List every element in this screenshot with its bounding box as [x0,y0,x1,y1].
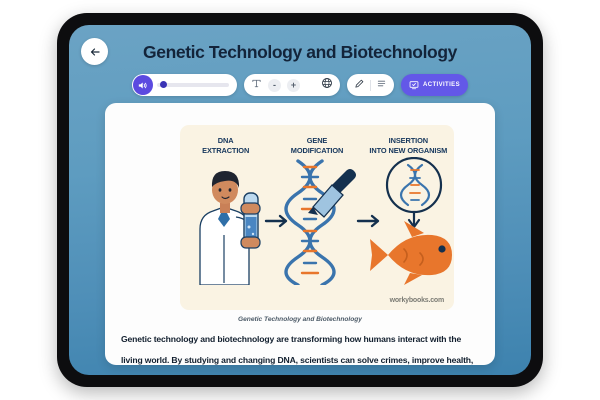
illustration-caption: Genetic Technology and Biotechnology [105,316,495,323]
lesson-body-text: Genetic technology and biotechnology are… [121,329,481,365]
activities-label: ACTIVITIES [423,82,460,88]
stage-label-insertion: INSERTION INTO NEW ORGANISM [363,136,454,156]
audio-control-group [132,74,237,96]
globe-icon[interactable] [321,76,333,94]
content-card: DNA EXTRACTION GENE MODIFICATION INSERTI… [105,103,495,365]
arrow-1 [266,216,286,226]
list-icon[interactable] [376,76,387,94]
process-illustration [180,157,454,285]
scientist-figure [200,171,260,285]
toolbar: - + [69,74,531,96]
screenshot-root: Genetic Technology and Biotechnology [0,0,600,400]
stage-label-gene-modification: GENE MODIFICATION [271,136,362,156]
dna-helix [286,161,334,285]
activities-button[interactable]: ACTIVITIES [401,74,468,96]
decrease-text-button[interactable]: - [268,79,281,92]
page-title: Genetic Technology and Biotechnology [69,42,531,63]
pencil-icon[interactable] [354,76,365,94]
illustration-panel: DNA EXTRACTION GENE MODIFICATION INSERTI… [180,125,454,310]
dna-circle [387,158,441,227]
tablet-frame: Genetic Technology and Biotechnology [57,13,543,387]
volume-slider-handle[interactable] [160,81,167,88]
increase-text-button[interactable]: + [287,79,300,92]
volume-slider[interactable] [157,83,229,87]
tablet-screen: Genetic Technology and Biotechnology [69,25,531,375]
divider [370,80,371,91]
annotation-group [347,74,394,96]
stage-label-row: DNA EXTRACTION GENE MODIFICATION INSERTI… [180,136,454,156]
fish [370,221,452,285]
speaker-icon [137,80,148,91]
stage-label-dna-extraction: DNA EXTRACTION [180,136,271,156]
text-size-icon[interactable] [251,78,262,92]
watermark: workybooks.com [390,297,444,304]
speaker-button[interactable] [133,75,153,95]
text-settings-group: - + [244,74,340,96]
arrow-2 [358,216,378,226]
monitor-icon [409,80,419,90]
